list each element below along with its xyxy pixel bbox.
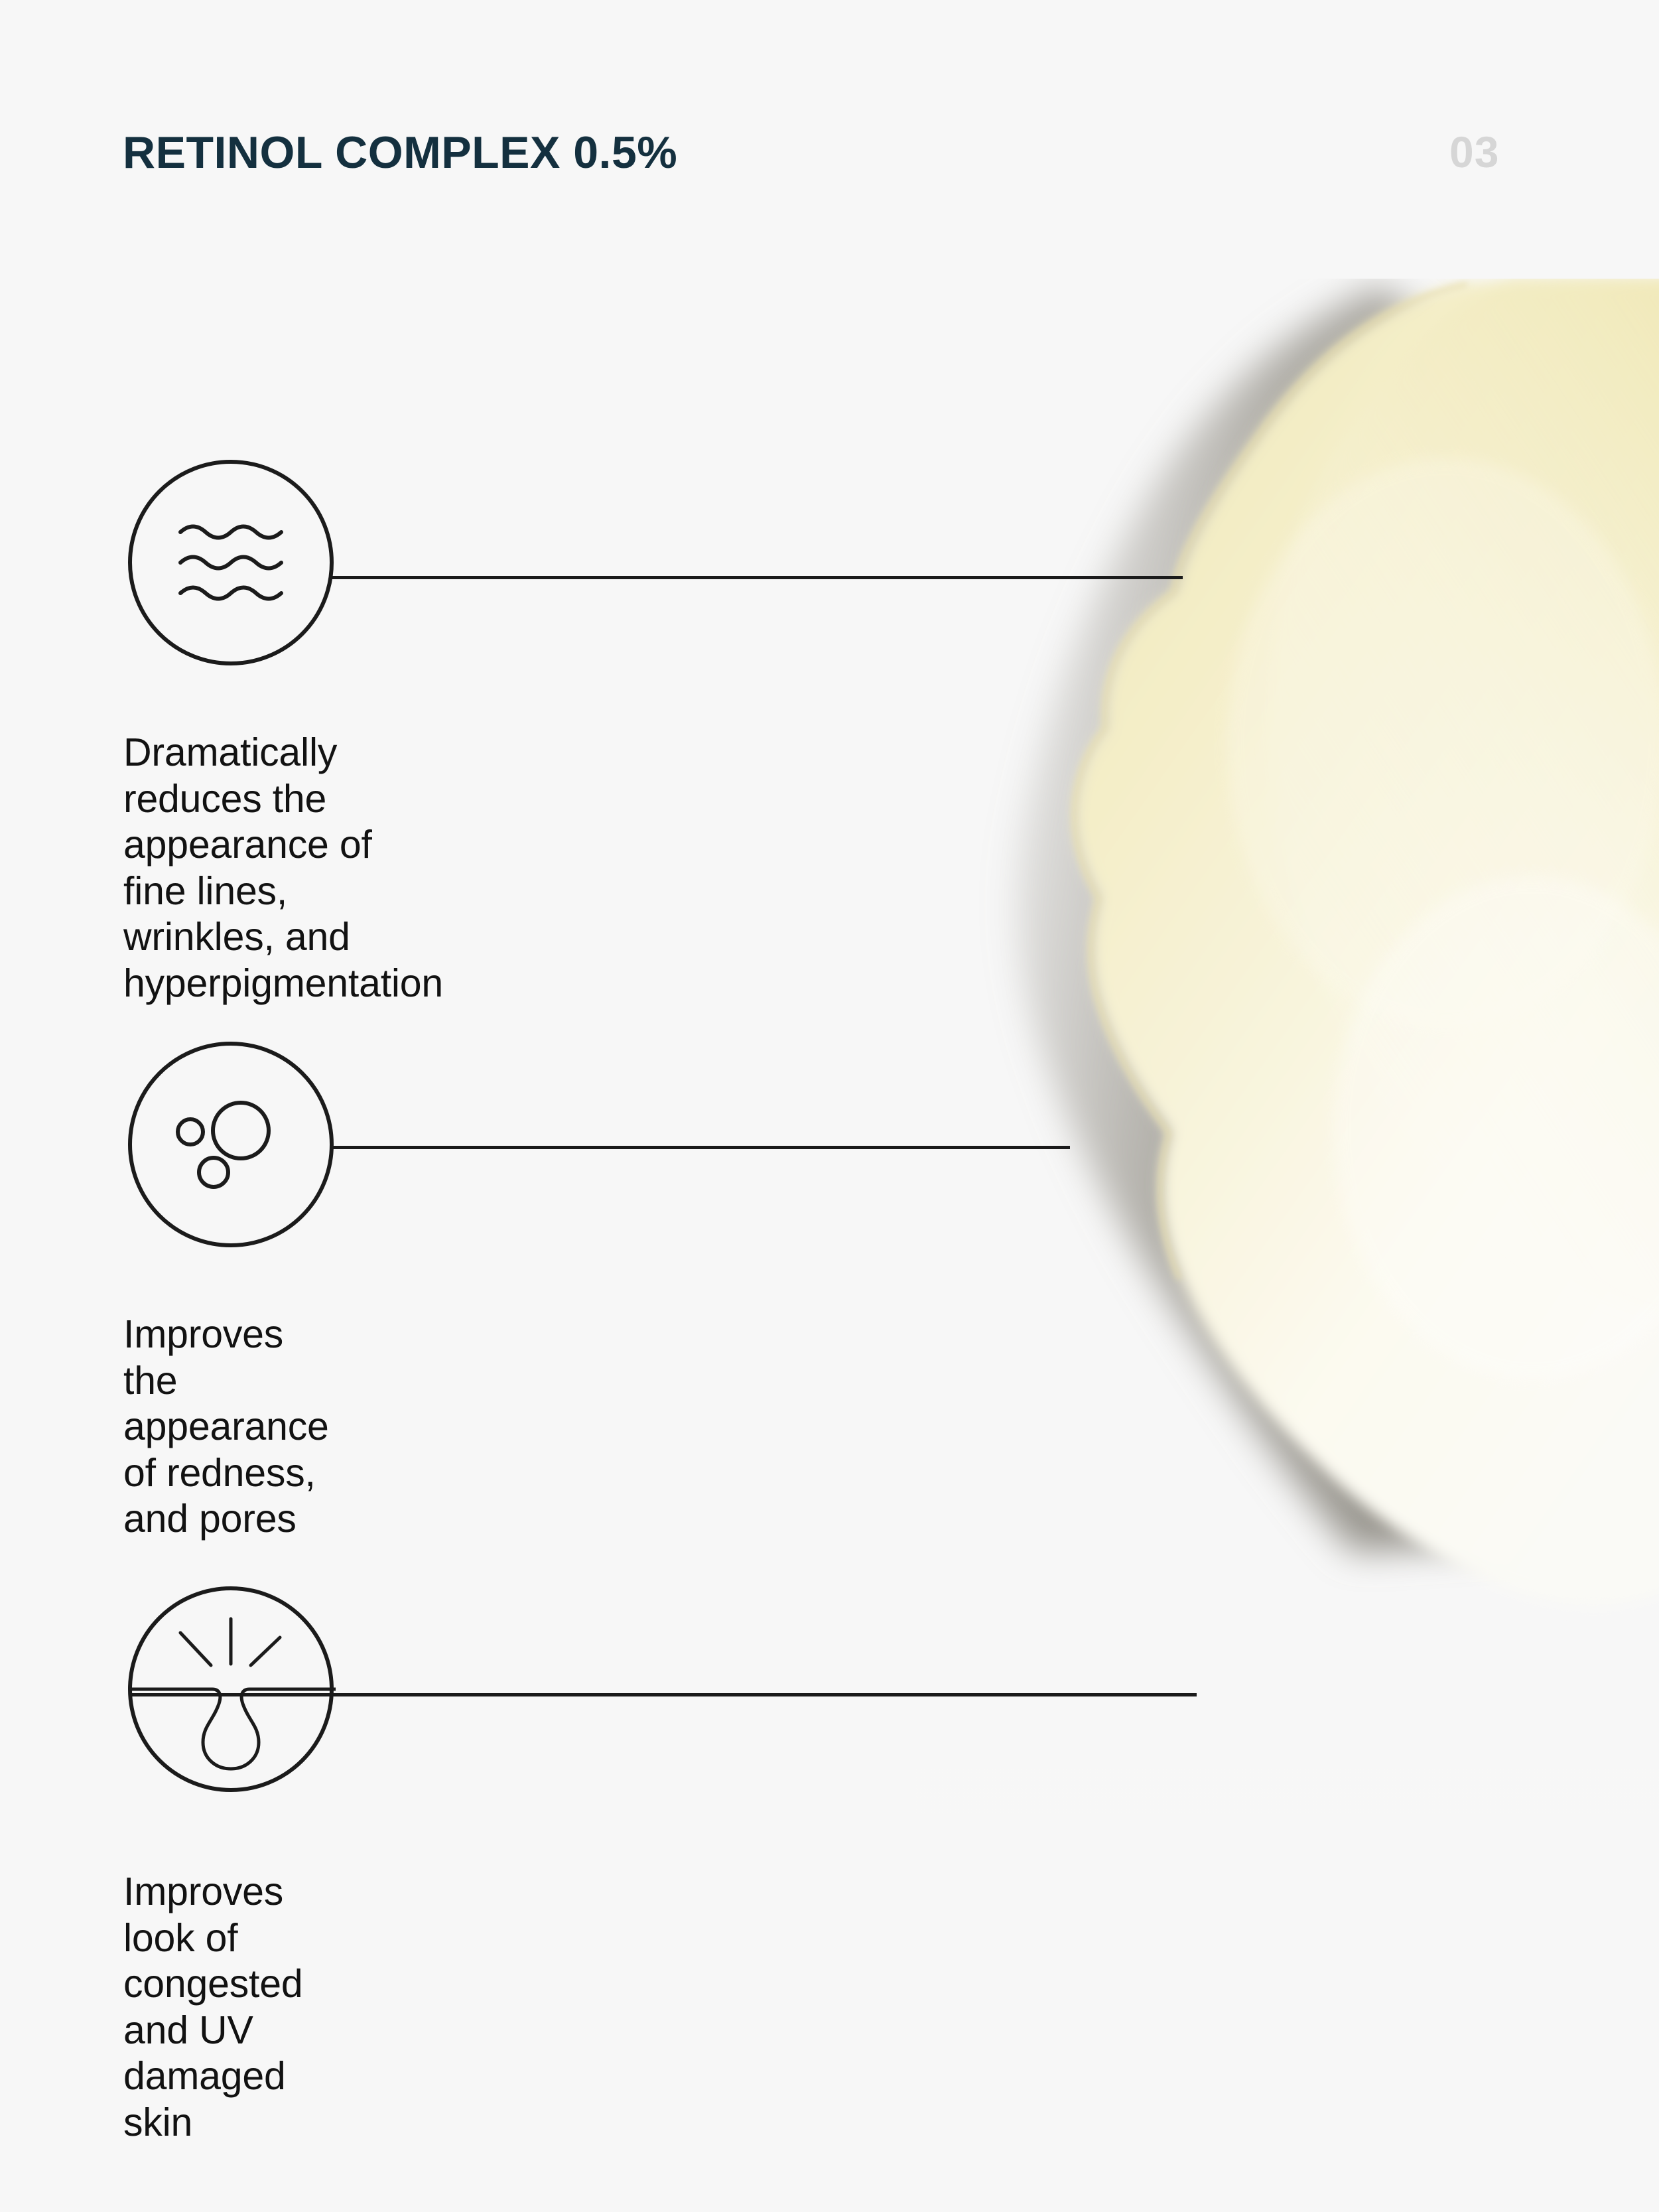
- feature-description-3: Improves look of congested and UV damage…: [123, 1869, 302, 2146]
- product-swatch-image: [915, 279, 1659, 1977]
- page-title: RETINOL COMPLEX 0.5%: [123, 130, 677, 175]
- slide-canvas: RETINOL COMPLEX 0.5% 03 Dramatically red…: [0, 0, 1659, 2212]
- connector-line-1: [332, 576, 1183, 579]
- feature-description-1: Dramatically reduces the appearance of f…: [123, 730, 443, 1007]
- follicle-burst-icon: [126, 1584, 336, 1794]
- connector-line-2: [332, 1146, 1070, 1149]
- slide-header: RETINOL COMPLEX 0.5% 03: [0, 0, 1659, 212]
- feature-description-2: Improves the appearance of redness, and …: [123, 1312, 329, 1543]
- pores-circles-icon: [126, 1040, 336, 1249]
- page-number: 03: [1449, 130, 1499, 174]
- wavy-lines-icon: [126, 458, 336, 667]
